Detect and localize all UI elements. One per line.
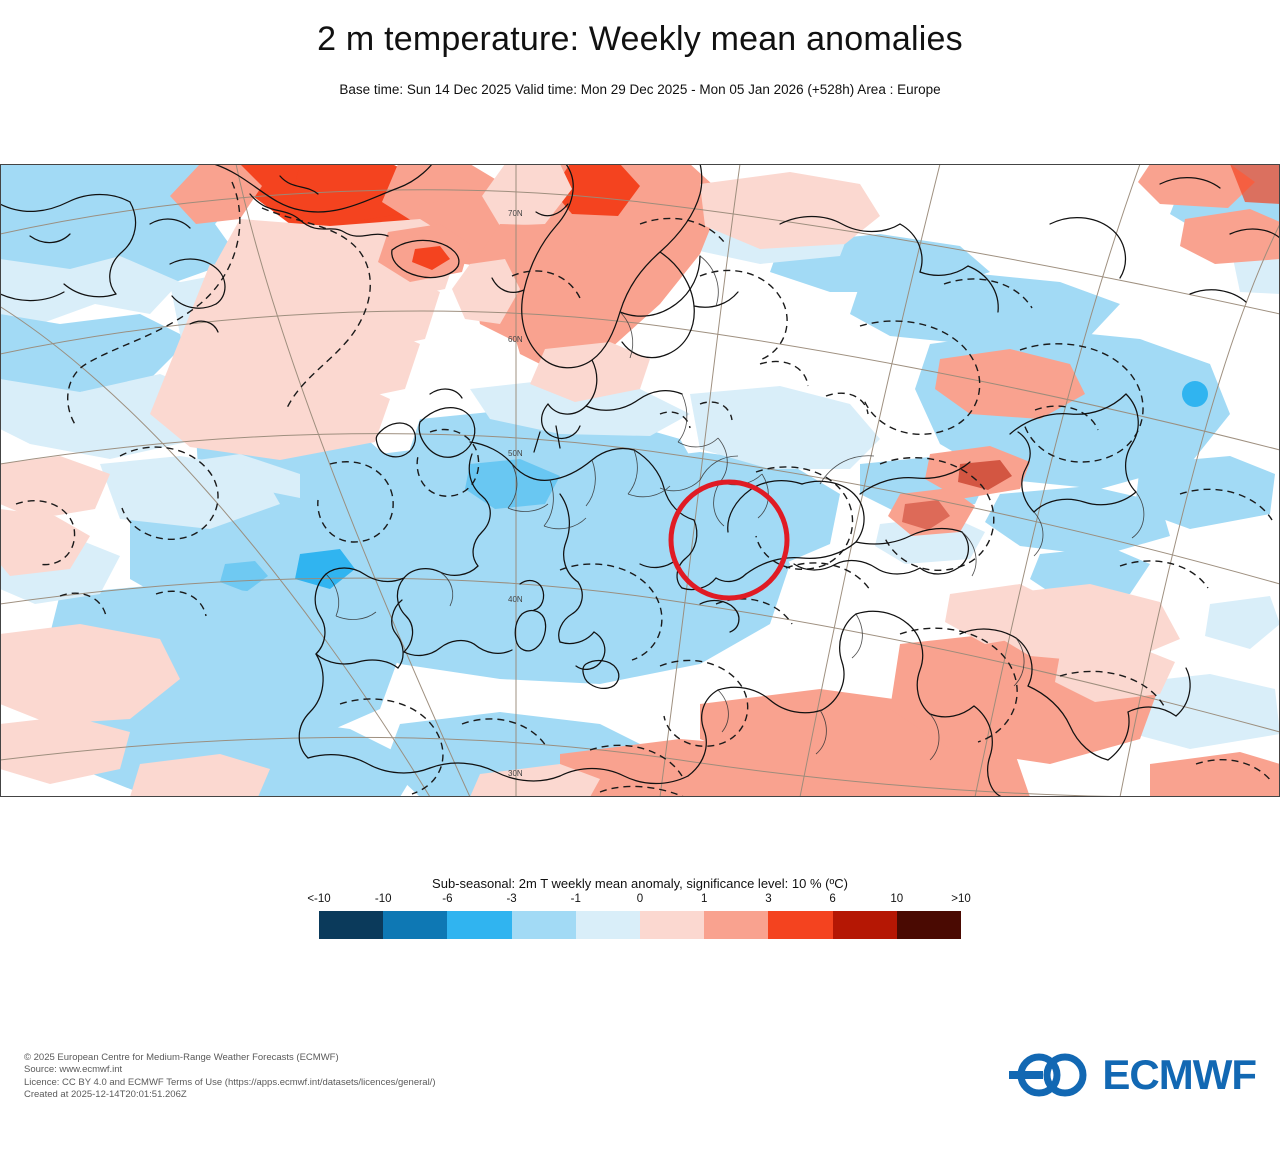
page-subtitle: Base time: Sun 14 Dec 2025 Valid time: M… — [0, 82, 1280, 97]
colorbar-tick-6: 1 — [701, 893, 707, 905]
colorbar-swatch-9 — [897, 911, 961, 939]
colorbar-tick-labels: <-10 -10 -6 -3 -1 0 1 3 6 10 >10 — [319, 891, 961, 911]
colorbar-swatch-4 — [576, 911, 640, 939]
footer-line-created: Created at 2025-12-14T20:01:51.206Z — [24, 1089, 436, 1101]
colorbar-swatch-0 — [319, 911, 383, 939]
colorbar-tick-5: 0 — [637, 893, 643, 905]
colorbar-swatch-3 — [512, 911, 576, 939]
colorbar-tick-0: <-10 — [307, 893, 330, 905]
lat-label-30n: 30N — [508, 769, 523, 778]
page-title: 2 m temperature: Weekly mean anomalies — [0, 20, 1280, 59]
lat-label-40n: 40N — [508, 595, 523, 604]
colorbar-block: Sub-seasonal: 2m T weekly mean anomaly, … — [0, 876, 1280, 939]
ecmwf-rings-icon — [1009, 1052, 1095, 1098]
colorbar-swatch-1 — [383, 911, 447, 939]
colorbar-tick-9: 10 — [890, 893, 903, 905]
colorbar-swatch-8 — [833, 911, 897, 939]
colorbar: <-10 -10 -6 -3 -1 0 1 3 6 10 >10 — [319, 891, 961, 939]
lat-label-50n: 50N — [508, 449, 523, 458]
colorbar-swatches — [319, 911, 961, 939]
colorbar-title: Sub-seasonal: 2m T weekly mean anomaly, … — [0, 876, 1280, 891]
colorbar-tick-3: -3 — [506, 893, 516, 905]
footer-line-copyright: © 2025 European Centre for Medium-Range … — [24, 1052, 436, 1064]
lat-label-70n: 70N — [508, 209, 523, 218]
colorbar-swatch-7 — [768, 911, 832, 939]
anomaly-map[interactable]: 70N 60N 50N 40N 30N — [0, 164, 1280, 797]
colorbar-swatch-5 — [640, 911, 704, 939]
footer-credits: © 2025 European Centre for Medium-Range … — [24, 1052, 436, 1102]
colorbar-tick-8: 6 — [829, 893, 835, 905]
colorbar-tick-10: >10 — [951, 893, 971, 905]
colorbar-swatch-2 — [447, 911, 511, 939]
colorbar-swatch-6 — [704, 911, 768, 939]
ecmwf-wordmark: ECMWF — [1102, 1054, 1256, 1096]
ecmwf-logo: ECMWF — [1009, 1052, 1256, 1098]
colorbar-tick-2: -6 — [442, 893, 452, 905]
lat-label-60n: 60N — [508, 335, 523, 344]
colorbar-tick-4: -1 — [571, 893, 581, 905]
footer-line-licence: Licence: CC BY 4.0 and ECMWF Terms of Us… — [24, 1077, 436, 1089]
colorbar-tick-7: 3 — [765, 893, 771, 905]
footer-line-source: Source: www.ecmwf.int — [24, 1064, 436, 1076]
map-panel[interactable]: 70N 60N 50N 40N 30N — [0, 164, 1280, 797]
colorbar-tick-1: -10 — [375, 893, 392, 905]
